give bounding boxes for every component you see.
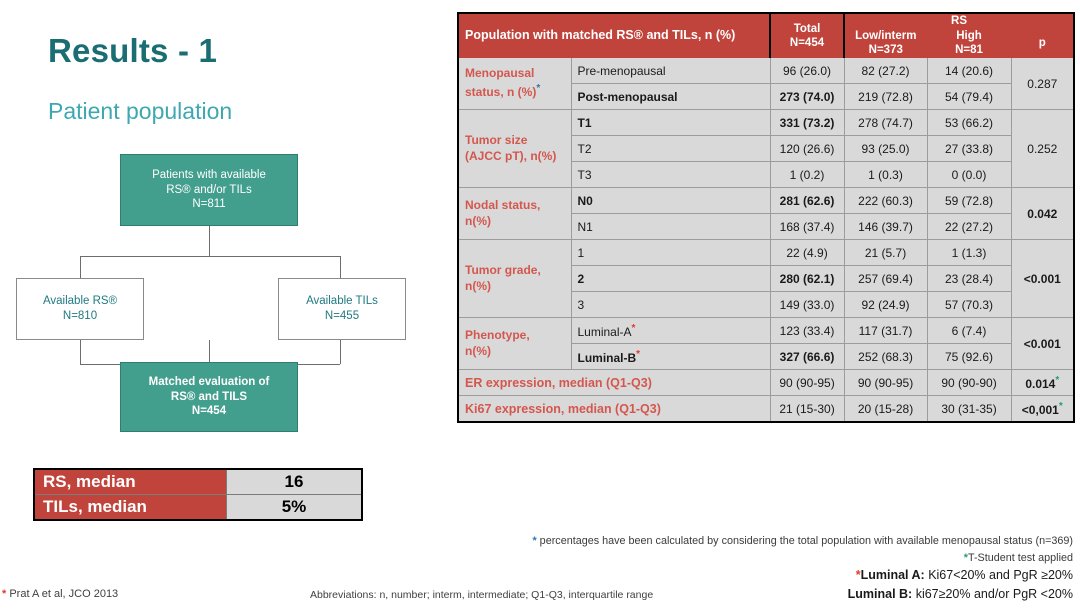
cell-total: 280 (62.1) [770,266,844,292]
median-row-label: RS, median [34,469,227,495]
characteristics-table-body: Menopausalstatus, n (%)*Pre-menopausal96… [458,58,1074,423]
row-wide-label: Ki67 expression, median (Q1-Q3) [458,396,770,423]
row-subcategory-label: N0 [571,188,770,214]
cell-rs-high: 54 (79.4) [927,84,1011,110]
connector-line [80,340,81,364]
flow-box-available-tils: Available TILs N=455 [278,278,406,340]
flow-box-line: N=454 [192,404,226,419]
row-category-label: Menopausalstatus, n (%)* [458,58,571,110]
page-title: Results - 1 [48,32,217,70]
table-row: ER expression, median (Q1-Q3)90 (90-95)9… [458,370,1074,396]
row-category-label: Tumor grade,n(%) [458,240,571,318]
footnote-luminal-a-label: Luminal A: [861,568,925,582]
flow-box-available-rs: Available RS® N=810 [16,278,144,340]
row-subcategory-label: 1 [571,240,770,266]
cell-rs-high: 27 (33.8) [927,136,1011,162]
cell-rs-low: 222 (60.3) [844,188,927,214]
table-row: Nodal status,n(%)N0281 (62.6)222 (60.3)5… [458,188,1074,214]
row-category-label: Nodal status,n(%) [458,188,571,240]
cell-rs-high: 0 (0.0) [927,162,1011,188]
cell-total: 22 (4.9) [770,240,844,266]
header-rs-low-label: Low/interm [851,29,921,43]
footnote-luminal-b-label: Luminal B: [848,587,913,601]
table-row: RS, median 16 [34,469,362,495]
cell-rs-low: 82 (27.2) [844,58,927,84]
table-row: TILs, median 5% [34,495,362,521]
flow-box-line: N=810 [63,309,97,324]
cell-p-value: <0,001* [1011,396,1074,423]
cell-rs-low: 21 (5.7) [844,240,927,266]
row-wide-label: ER expression, median (Q1-Q3) [458,370,770,396]
characteristics-table: Population with matched RS® and TILs, n … [457,12,1075,423]
footnote-luminal-a-def: Ki67<20% and PgR ≥20% [925,568,1073,582]
cell-total: 1 (0.2) [770,162,844,188]
row-subcategory-label: Post-menopausal [571,84,770,110]
footnote-text: T-Student test applied [968,552,1073,564]
characteristics-table-container: Population with matched RS® and TILs, n … [457,12,1073,423]
cell-rs-low: 92 (24.9) [844,292,927,318]
header-rs-group: RS [844,13,1074,29]
row-subcategory-label: Pre-menopausal [571,58,770,84]
cell-total: 120 (26.6) [770,136,844,162]
p-value-asterisk: * [1055,375,1059,386]
table-row: Menopausalstatus, n (%)*Pre-menopausal96… [458,58,1074,84]
median-row-value: 5% [227,495,363,521]
row-category-label: Tumor size(AJCC pT), n(%) [458,110,571,188]
cell-rs-low: 278 (74.7) [844,110,927,136]
cell-rs-high: 30 (31-35) [927,396,1011,423]
table-row: Phenotype,n(%)Luminal-A*123 (33.4)117 (3… [458,318,1074,344]
cell-p-value: <0.001 [1011,240,1074,318]
header-rs-high: High N=81 [927,29,1011,58]
cell-rs-high: 90 (90-90) [927,370,1011,396]
header-total-n: N=454 [777,36,837,50]
page-subtitle: Patient population [48,98,232,125]
cell-rs-high: 75 (92.6) [927,344,1011,370]
flow-box-line: Matched evaluation of [149,375,270,390]
cell-rs-high: 14 (20.6) [927,58,1011,84]
cell-rs-low: 219 (72.8) [844,84,927,110]
header-p-value: p [1011,29,1074,58]
row-subcategory-label: T3 [571,162,770,188]
cell-rs-low: 252 (68.3) [844,344,927,370]
cell-p-value: 0.014* [1011,370,1074,396]
connector-line [80,256,81,278]
cell-total: 281 (62.6) [770,188,844,214]
cell-p-value: <0.001 [1011,318,1074,370]
cell-rs-low: 257 (69.4) [844,266,927,292]
row-subcategory-label: N1 [571,214,770,240]
table-header-row-1: Population with matched RS® and TILs, n … [458,13,1074,29]
row-subcategory-label: T2 [571,136,770,162]
category-asterisk: * [536,83,540,94]
connector-line [340,256,341,278]
cell-rs-low: 90 (90-95) [844,370,927,396]
cell-total: 331 (73.2) [770,110,844,136]
cell-rs-high: 59 (72.8) [927,188,1011,214]
cell-total: 168 (37.4) [770,214,844,240]
cell-total: 96 (26.0) [770,58,844,84]
row-subcategory-label: Luminal-B* [571,344,770,370]
connector-line [80,256,340,257]
flow-box-line: N=811 [192,197,225,212]
footnote-text: percentages have been calculated by cons… [537,535,1073,547]
cell-rs-high: 23 (28.4) [927,266,1011,292]
header-total: Total N=454 [770,13,844,58]
cell-p-value: 0.287 [1011,58,1074,110]
header-total-label: Total [777,22,837,36]
connector-line [209,226,210,256]
citation-text: Prat A et al, JCO 2013 [6,588,118,600]
cell-rs-high: 22 (27.2) [927,214,1011,240]
patient-flow-diagram: Patients with available RS® and/or TILs … [0,150,450,440]
cell-rs-high: 57 (70.3) [927,292,1011,318]
cell-total: 21 (15-30) [770,396,844,423]
subcategory-asterisk: * [632,323,636,334]
flow-box-line: Patients with available [152,168,266,183]
cell-rs-low: 93 (25.0) [844,136,927,162]
cell-rs-low: 117 (31.7) [844,318,927,344]
cell-rs-low: 20 (15-28) [844,396,927,423]
connector-line [209,340,210,364]
header-rs-high-label: High [934,29,1005,43]
header-rs-low: Low/interm N=373 [844,29,927,58]
p-value-asterisk: * [1059,401,1063,412]
row-category-label: Phenotype,n(%) [458,318,571,370]
table-row: Tumor grade,n(%)122 (4.9)21 (5.7)1 (1.3)… [458,240,1074,266]
cell-rs-high: 53 (66.2) [927,110,1011,136]
subcategory-asterisk: * [636,349,640,360]
connector-line [340,340,341,364]
cell-p-value: 0.042 [1011,188,1074,240]
flow-box-line: N=455 [325,309,359,324]
footnote-luminal-a: *Luminal A: Ki67<20% and PgR ≥20% [470,566,1073,585]
cell-rs-low: 1 (0.3) [844,162,927,188]
flow-box-available-rs-tils: Patients with available RS® and/or TILs … [120,154,298,226]
left-panel: Results - 1 Patient population Patients … [0,0,450,611]
header-rs-low-n: N=373 [851,43,921,57]
cell-total: 149 (33.0) [770,292,844,318]
table-footnotes: * percentages have been calculated by co… [470,533,1073,604]
row-subcategory-label: Luminal-A* [571,318,770,344]
flow-box-line: Available RS® [43,294,117,309]
table-row: Tumor size(AJCC pT), n(%)T1331 (73.2)278… [458,110,1074,136]
cell-rs-low: 146 (39.7) [844,214,927,240]
footnote-luminal-b: Luminal B: ki67≥20% and/or PgR <20% [470,585,1073,604]
median-row-value: 16 [227,469,363,495]
median-summary-table: RS, median 16 TILs, median 5% [33,468,363,521]
cell-total: 90 (90-95) [770,370,844,396]
cell-p-value: 0.252 [1011,110,1074,188]
cell-rs-high: 1 (1.3) [927,240,1011,266]
flow-box-line: Available TILs [306,294,378,309]
row-subcategory-label: 3 [571,292,770,318]
cell-total: 327 (66.6) [770,344,844,370]
footnote-luminal-b-def: ki67≥20% and/or PgR <20% [912,587,1073,601]
footnote-tstudent: *T-Student test applied [470,550,1073,567]
cell-total: 123 (33.4) [770,318,844,344]
source-citation: * Prat A et al, JCO 2013 [2,588,118,600]
flow-box-line: RS® and TILS [171,390,247,405]
cell-rs-high: 6 (7.4) [927,318,1011,344]
header-rs-high-n: N=81 [934,43,1005,57]
median-row-label: TILs, median [34,495,227,521]
row-subcategory-label: 2 [571,266,770,292]
flow-box-line: RS® and/or TILs [166,183,252,198]
footnote-percentages: * percentages have been calculated by co… [470,533,1073,550]
header-population: Population with matched RS® and TILs, n … [458,13,770,58]
table-row: Ki67 expression, median (Q1-Q3)21 (15-30… [458,396,1074,423]
cell-total: 273 (74.0) [770,84,844,110]
flow-box-matched-evaluation: Matched evaluation of RS® and TILS N=454 [120,362,298,432]
row-subcategory-label: T1 [571,110,770,136]
